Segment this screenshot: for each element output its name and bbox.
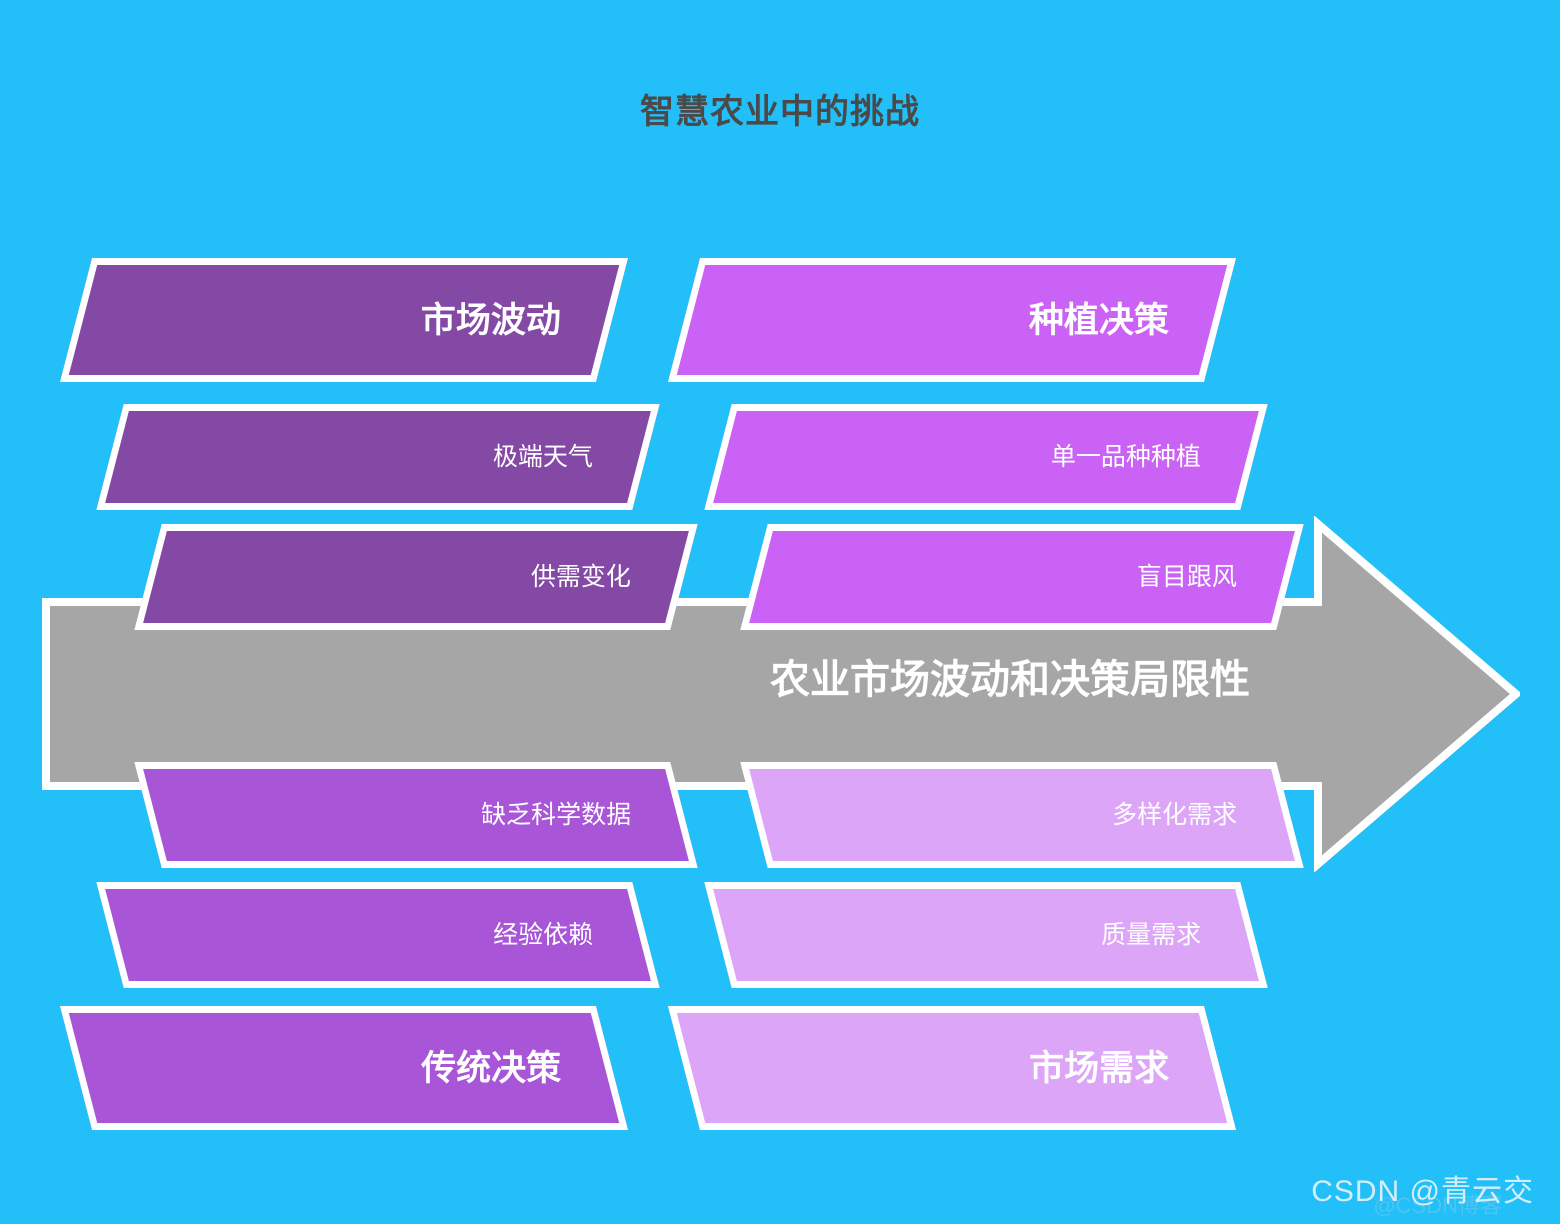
chip-label: 经验依赖 bbox=[493, 923, 639, 948]
chip-left-upper-item-1[interactable]: 供需变化 bbox=[134, 524, 697, 630]
chip-label: 多样化需求 bbox=[1112, 803, 1283, 828]
chip-label: 种植决策 bbox=[1029, 303, 1213, 338]
chip-right-upper-item-0[interactable]: 单一品种种植 bbox=[704, 404, 1267, 510]
chip-left-lower-header[interactable]: 传统决策 bbox=[60, 1006, 628, 1130]
chip-label: 盲目跟风 bbox=[1137, 565, 1283, 590]
chip-left-upper-item-0[interactable]: 极端天气 bbox=[96, 404, 659, 510]
chip-label: 市场需求 bbox=[1029, 1051, 1213, 1086]
arrow-label: 农业市场波动和决策局限性 bbox=[770, 660, 1410, 700]
chip-right-upper-header[interactable]: 种植决策 bbox=[668, 258, 1236, 382]
chip-label: 市场波动 bbox=[421, 303, 605, 338]
chip-left-upper-header[interactable]: 市场波动 bbox=[60, 258, 628, 382]
chip-left-lower-item-1[interactable]: 经验依赖 bbox=[96, 882, 659, 988]
chip-label: 单一品种种植 bbox=[1051, 445, 1247, 470]
chip-label: 传统决策 bbox=[421, 1051, 605, 1086]
chip-label: 极端天气 bbox=[493, 445, 639, 470]
chip-right-upper-item-1[interactable]: 盲目跟风 bbox=[740, 524, 1303, 630]
page-title: 智慧农业中的挑战 bbox=[0, 92, 1560, 133]
chip-left-lower-item-0[interactable]: 缺乏科学数据 bbox=[134, 762, 697, 868]
chip-right-lower-item-1[interactable]: 质量需求 bbox=[704, 882, 1267, 988]
diagram-canvas: 智慧农业中的挑战 农业市场波动和决策局限性 市场波动 极端天气 供需变化 种植决… bbox=[0, 0, 1560, 1224]
chip-label: 供需变化 bbox=[531, 565, 677, 590]
chip-right-lower-header[interactable]: 市场需求 bbox=[668, 1006, 1236, 1130]
chip-label: 缺乏科学数据 bbox=[481, 803, 677, 828]
chip-label: 质量需求 bbox=[1101, 923, 1247, 948]
watermark: CSDN @青云交 bbox=[1311, 1166, 1534, 1210]
chip-right-lower-item-0[interactable]: 多样化需求 bbox=[740, 762, 1303, 868]
